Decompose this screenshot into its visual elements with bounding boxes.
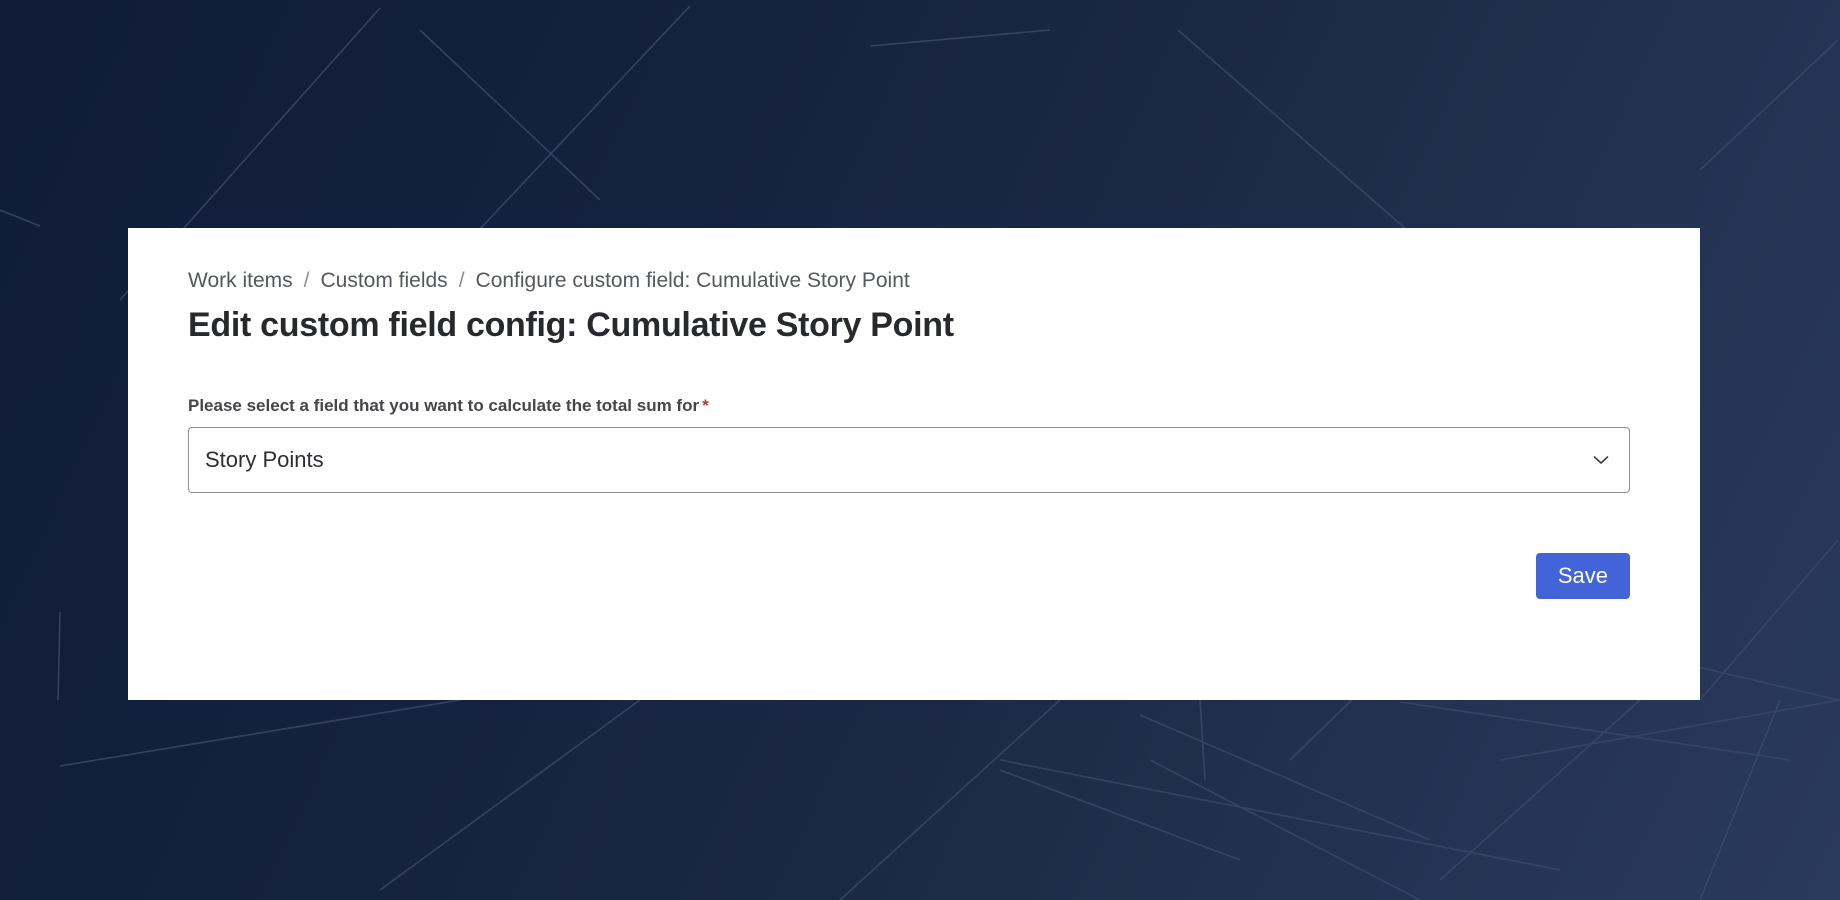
custom-field-form: Please select a field that you want to c… bbox=[188, 395, 1640, 599]
field-select-value: Story Points bbox=[205, 447, 324, 473]
field-select[interactable]: Story Points bbox=[188, 427, 1630, 493]
breadcrumb: Work items / Custom fields / Configure c… bbox=[188, 268, 1640, 293]
settings-card: Work items / Custom fields / Configure c… bbox=[128, 228, 1700, 700]
form-actions: Save bbox=[188, 553, 1630, 599]
breadcrumb-item-work-items[interactable]: Work items bbox=[188, 268, 293, 293]
breadcrumb-item-current: Configure custom field: Cumulative Story… bbox=[476, 268, 910, 293]
required-asterisk: * bbox=[702, 396, 709, 415]
breadcrumb-item-custom-fields[interactable]: Custom fields bbox=[320, 268, 447, 293]
field-select-wrapper: Story Points bbox=[188, 427, 1630, 493]
page-title: Edit custom field config: Cumulative Sto… bbox=[188, 305, 1640, 346]
breadcrumb-separator: / bbox=[304, 268, 310, 293]
field-label: Please select a field that you want to c… bbox=[188, 395, 1640, 417]
field-label-text: Please select a field that you want to c… bbox=[188, 396, 699, 415]
save-button[interactable]: Save bbox=[1536, 553, 1630, 599]
breadcrumb-separator: / bbox=[459, 268, 465, 293]
